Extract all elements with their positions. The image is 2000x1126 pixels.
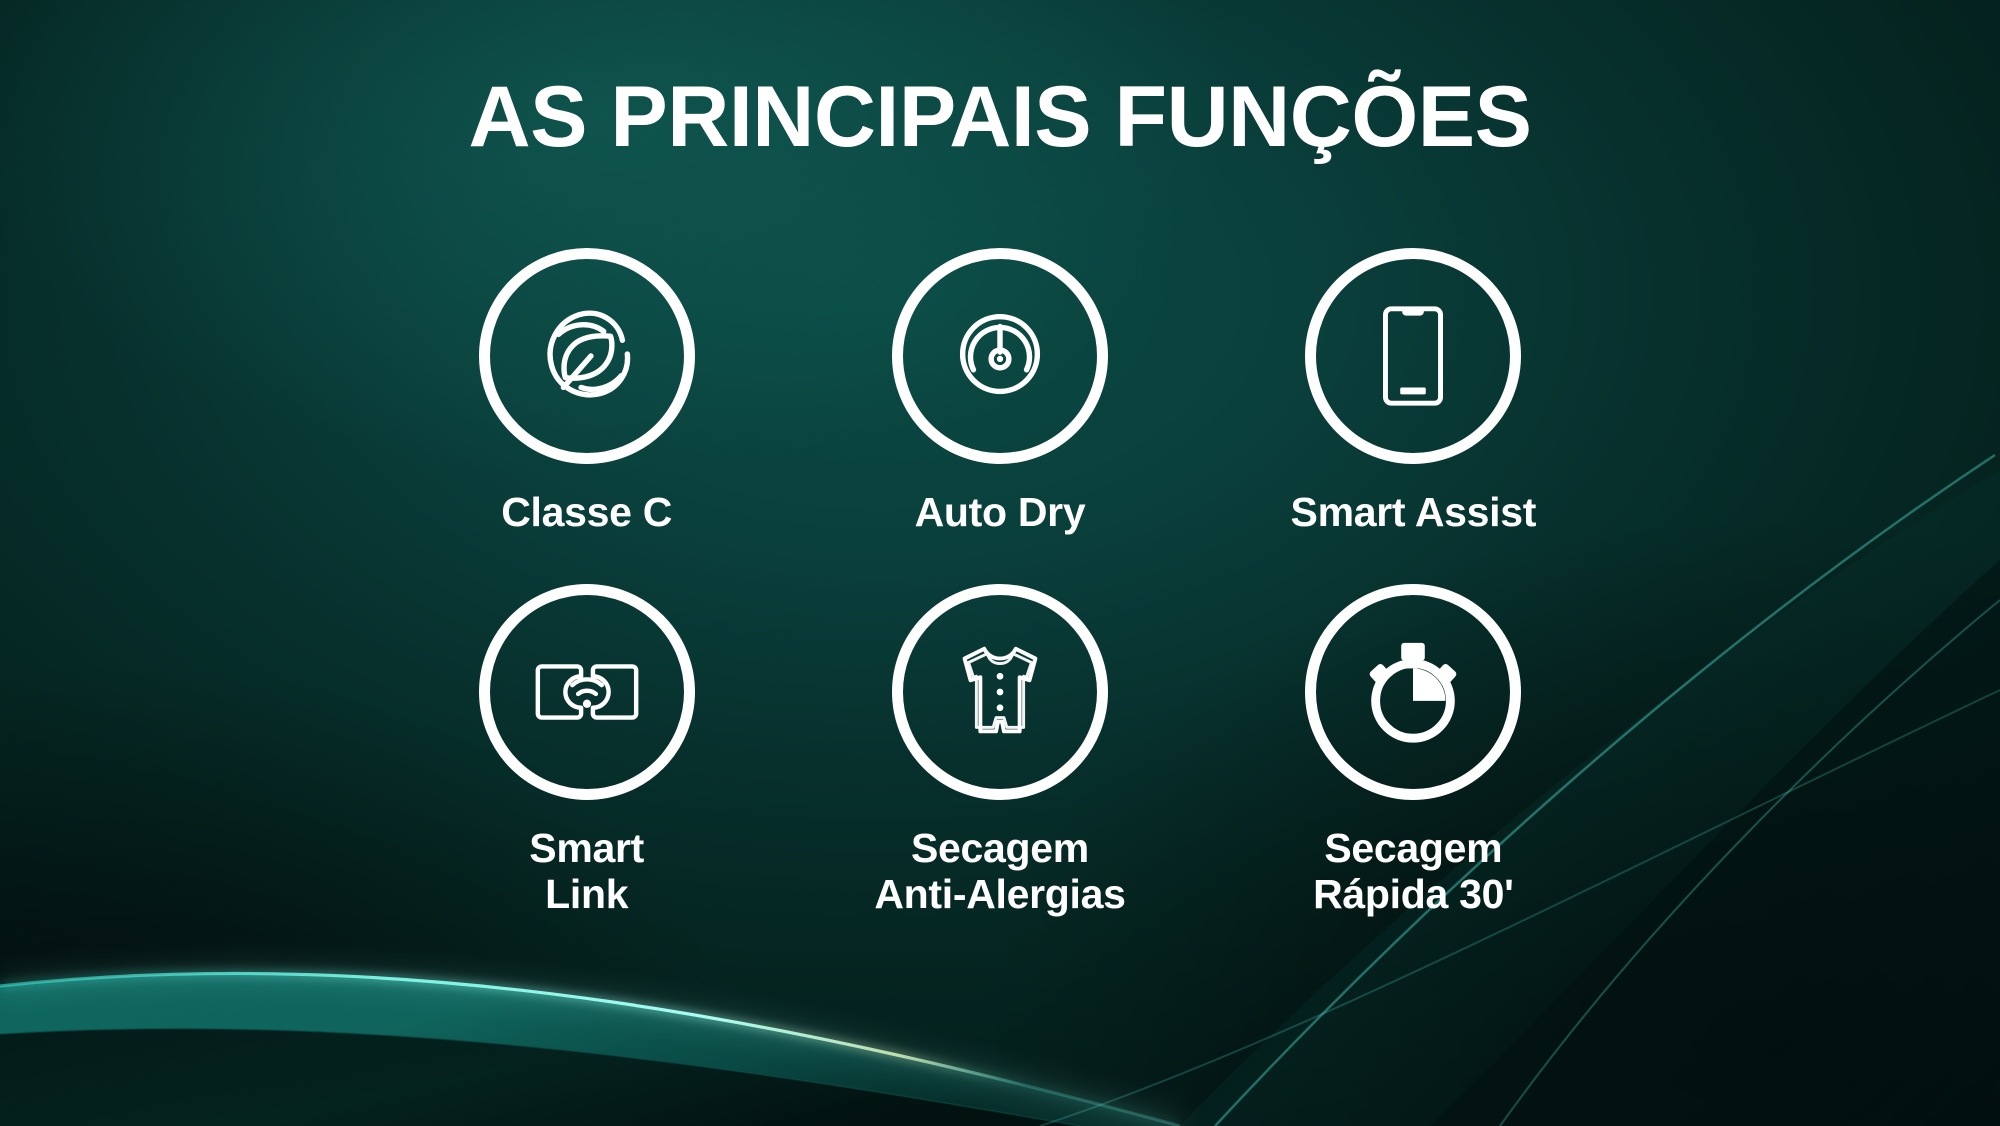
feature-secagem-anti-alergias[interactable]: Secagem Anti-Alergias	[793, 584, 1206, 918]
dial-gauge-icon	[941, 297, 1059, 415]
icon-ring-secagem-anti-alergias	[892, 584, 1108, 800]
icon-ring-smart-link	[479, 584, 695, 800]
feature-label: Smart Link	[529, 826, 644, 918]
feature-label: Secagem Anti-Alergias	[874, 826, 1125, 918]
features-grid: Classe C Auto Dry	[380, 248, 1620, 918]
feature-secagem-rapida-30[interactable]: Secagem Rápida 30'	[1207, 584, 1620, 918]
icon-ring-secagem-rapida-30	[1305, 584, 1521, 800]
icon-ring-auto-dry	[892, 248, 1108, 464]
feature-label: Smart Assist	[1291, 490, 1537, 536]
feature-smart-link[interactable]: Smart Link	[380, 584, 793, 918]
baby-romper-icon	[941, 633, 1059, 751]
feature-label: Secagem Rápida 30'	[1313, 826, 1513, 918]
icon-ring-classe-c	[479, 248, 695, 464]
feature-label: Auto Dry	[915, 490, 1086, 536]
icon-ring-smart-assist	[1305, 248, 1521, 464]
leaf-eco-icon	[528, 297, 646, 415]
smartphone-icon	[1354, 297, 1472, 415]
feature-smart-assist[interactable]: Smart Assist	[1207, 248, 1620, 536]
page-title: AS PRINCIPAIS FUNÇÕES	[0, 74, 2000, 160]
stopwatch-icon	[1354, 633, 1472, 751]
promo-banner: AS PRINCIPAIS FUNÇÕES	[0, 0, 2000, 1126]
feature-classe-c[interactable]: Classe C	[380, 248, 793, 536]
feature-auto-dry[interactable]: Auto Dry	[793, 248, 1206, 536]
wifi-panels-icon	[528, 633, 646, 751]
feature-label: Classe C	[501, 490, 672, 536]
